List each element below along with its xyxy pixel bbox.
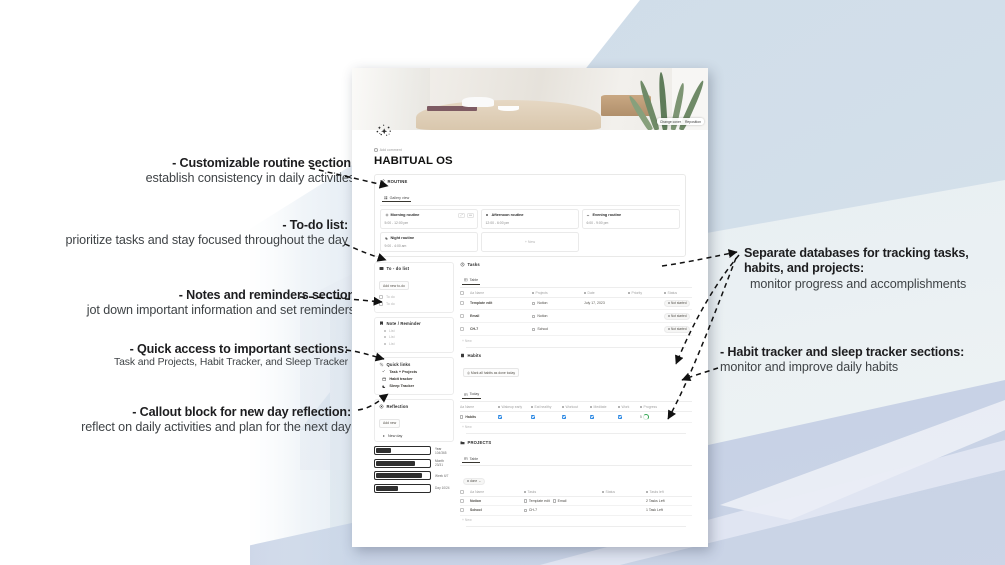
annotation-todo: - To-do list: prioritize tasks and stay … <box>18 218 348 249</box>
progress-bar-day-fill <box>376 486 398 491</box>
projects-col-status[interactable]: Status <box>602 490 646 494</box>
row-checkbox[interactable] <box>460 499 464 503</box>
note-list-item[interactable]: List <box>384 335 449 339</box>
table-row[interactable]: CH-7 School Not started <box>460 323 692 336</box>
select-all-checkbox[interactable] <box>460 490 464 494</box>
projects-table-view-label: Table <box>470 457 479 461</box>
note-list-item[interactable]: List <box>384 329 449 333</box>
routine-card-night[interactable]: Night routine 9:00 - 4:00 am <box>380 232 478 252</box>
progress-bar-month <box>374 459 431 468</box>
habits-col-wakeup[interactable]: Wakeup early <box>498 405 531 409</box>
progress-month-value: 23/31 <box>435 463 443 467</box>
progress-bar-week <box>374 471 431 480</box>
habit-checkbox-workout[interactable] <box>562 415 566 419</box>
tasks-header: Tasks <box>460 262 692 267</box>
progress-bar-year-fill <box>376 448 391 453</box>
routine-gallery-view-tab[interactable]: Gallery view <box>382 196 411 203</box>
add-comment-row[interactable]: Add comment <box>374 148 686 152</box>
more-options-icon[interactable]: ••• <box>467 213 474 218</box>
reflection-section[interactable]: Reflection Add new New day <box>374 399 454 442</box>
page-icon <box>524 509 527 513</box>
cover-book <box>427 106 477 110</box>
routine-card-evening[interactable]: Evening routine 6:00 - 9:00 pm <box>582 209 680 229</box>
tasks-table-view-label: Table <box>470 278 479 282</box>
progress-day-text: Day <box>435 486 441 490</box>
annotation-quicklinks-body: Task and Projects, Habit Tracker, and Sl… <box>18 357 348 370</box>
routine-card-afternoon[interactable]: Afternoon routine 12:00 - 6:00 pm <box>481 209 579 229</box>
progress-day-value: 10/24 <box>442 486 450 490</box>
row-checkbox[interactable] <box>460 327 464 331</box>
projects-col-tasks[interactable]: Tasks <box>524 490 602 494</box>
progress-bar-week-fill <box>376 473 422 478</box>
page-icon <box>532 328 535 332</box>
page-icon <box>524 499 527 503</box>
task-project: School <box>532 327 584 331</box>
select-all-checkbox[interactable] <box>460 291 464 295</box>
filter-icon <box>467 480 469 482</box>
projects-filter-label: done <box>470 479 477 483</box>
quicklink-task-projects[interactable]: Task + Projects <box>382 369 449 373</box>
sun-icon <box>485 213 489 218</box>
note-list-item[interactable]: List <box>384 342 449 346</box>
habit-progress: 5 <box>640 414 692 420</box>
todo-title: To - do list <box>387 266 410 271</box>
annotation-notes: - Notes and reminders section jot down i… <box>18 288 355 319</box>
annotation-routine-body: establish consistency in daily activitie… <box>18 171 355 186</box>
projects-col-tasks-left[interactable]: Tasks left <box>646 490 692 494</box>
todo-icon <box>379 266 384 271</box>
notes-title: Note / Reminder <box>387 321 421 326</box>
calendar-icon <box>382 377 386 381</box>
projects-header: PROJECTS <box>460 440 692 445</box>
habits-header: Habits <box>460 353 692 358</box>
link-icon <box>379 362 384 367</box>
moon-icon <box>385 236 389 241</box>
progress-row-day: Day 10/24 <box>374 484 454 493</box>
routine-section[interactable]: ROUTINE Gallery view <box>374 174 686 257</box>
habit-name: Habits <box>460 415 498 419</box>
routine-card-morning-time: 5:00 - 12:00 pm <box>385 221 474 225</box>
routine-card-night-time: 9:00 - 4:00 am <box>385 244 474 248</box>
progress-row-week: Week 6/7 <box>374 471 454 480</box>
mark-all-icon: ◎ <box>467 371 470 375</box>
project-name: Notion <box>470 499 524 503</box>
quicklink-habit-tracker-label: Habit tracker <box>389 377 412 381</box>
tasks-view-tabs[interactable]: Table <box>460 269 692 288</box>
habits-col-progress[interactable]: Progress <box>640 405 692 409</box>
bullet-icon <box>384 343 386 345</box>
routine-card-afternoon-title: Afternoon routine <box>485 213 574 218</box>
project-name: School <box>470 508 524 512</box>
progress-year-value: 104/365 <box>435 451 447 455</box>
annotation-habit-sleep: - Habit tracker and sleep tracker sectio… <box>720 345 995 376</box>
progress-label-year: Year 104/365 <box>435 447 447 456</box>
tasks-table: Aa Name Projects Date Priority Status Te… <box>460 291 692 347</box>
quicklinks-section[interactable]: Quick links Task + Projects <box>374 357 454 395</box>
todo-checkbox[interactable] <box>379 302 383 306</box>
progress-week-text: Week <box>435 474 443 478</box>
todo-item-label: To do <box>386 302 395 306</box>
project-tasks-left: 1 Task Left <box>646 508 692 512</box>
tasks-icon <box>460 262 465 267</box>
projects-divider <box>466 526 686 527</box>
left-column: To - do list Add new to-do To do To do <box>374 262 454 497</box>
projects-section[interactable]: PROJECTS Table <box>460 440 692 527</box>
row-checkbox[interactable] <box>460 301 464 305</box>
chevron-right-icon <box>383 435 385 437</box>
change-cover-button[interactable]: Change cover <box>660 120 681 124</box>
habit-progress-value: 5 <box>640 415 642 419</box>
routine-card-night-title: Night routine <box>385 236 474 241</box>
todo-item-label: To do <box>386 295 395 299</box>
tasks-col-date[interactable]: Date <box>584 291 628 295</box>
progress-ring-icon <box>643 414 649 420</box>
habits-icon <box>460 353 465 358</box>
todo-section[interactable]: To - do list Add new to-do To do To do <box>374 262 454 313</box>
routine-card-evening-name: Evening routine <box>592 213 621 217</box>
sunset-icon <box>586 213 590 218</box>
todo-item[interactable]: To do <box>379 295 449 299</box>
right-column: Tasks Table <box>460 262 692 527</box>
todo-checkbox[interactable] <box>379 295 383 299</box>
task-status: Not started <box>664 326 692 334</box>
status-badge: Not started <box>664 313 690 321</box>
annotation-notes-heading: - Notes and reminders section <box>18 288 355 303</box>
annotation-routine: - Customizable routine section: establis… <box>18 156 355 187</box>
reflection-title: Reflection <box>387 404 409 409</box>
habit-checkbox-work[interactable] <box>618 415 622 419</box>
habit-checkbox-eat-healthy[interactable] <box>531 415 535 419</box>
routine-card-afternoon-name: Afternoon routine <box>491 213 523 217</box>
progress-bar-day <box>374 484 431 493</box>
habits-new-row-button[interactable]: + New <box>460 423 692 429</box>
progress-label-month: Month 23/31 <box>435 459 444 468</box>
task-project: Notion <box>532 314 584 318</box>
habits-today-view-label: Today <box>470 392 480 396</box>
quicklink-task-projects-label: Task + Projects <box>389 370 417 374</box>
annotation-callout-heading: - Callout block for new day reflection: <box>18 405 351 420</box>
progress-label-week: Week 6/7 <box>435 474 448 478</box>
habits-col-name[interactable]: Aa Name <box>460 405 498 409</box>
progress-row-month: Month 23/31 <box>374 459 454 468</box>
routine-card-evening-time: 6:00 - 9:00 pm <box>586 221 675 225</box>
expand-icon[interactable]: ⤢ <box>458 213 465 218</box>
tasks-col-projects[interactable]: Projects <box>532 291 584 295</box>
annotation-quicklinks-heading: - Quick access to important sections: <box>18 342 348 357</box>
progress-row-year: Year 104/365 <box>374 446 454 455</box>
add-comment-label: Add comment <box>380 148 402 152</box>
table-icon <box>464 278 468 282</box>
habit-checkbox-wakeup[interactable] <box>498 415 502 419</box>
routine-gallery-view-label: Gallery view <box>390 196 410 200</box>
task-name: CH-7 <box>470 327 532 331</box>
mark-all-habits-done-button[interactable]: ◎ Mark all habits as done today <box>463 368 519 377</box>
annotation-callout: - Callout block for new day reflection: … <box>18 405 351 436</box>
routine-card-evening-title: Evening routine <box>586 213 675 218</box>
chevron-down-icon: ⌄ <box>479 479 482 483</box>
habit-checkbox-meditate[interactable] <box>590 415 594 419</box>
progress-label-day: Day 10/24 <box>435 486 450 490</box>
page-title[interactable]: HABITUAL OS <box>374 155 686 167</box>
routine-card-tools[interactable]: ⤢ ••• <box>458 213 474 218</box>
tasks-new-row-button[interactable]: + New <box>460 336 692 342</box>
annotation-databases-heading: Separate databases for tracking tasks, h… <box>744 246 994 277</box>
projects-view-tabs[interactable]: Table <box>460 447 692 466</box>
routine-new-card-button[interactable]: + New <box>481 232 579 252</box>
annotation-habit-sleep-body: monitor and improve daily habits <box>720 360 995 375</box>
sun-icon <box>385 213 389 218</box>
routine-card-morning[interactable]: Morning routine 5:00 - 12:00 pm ⤢ ••• <box>380 209 478 229</box>
habits-today-view-tab[interactable]: Today <box>462 392 481 399</box>
routine-new-label: + New <box>525 240 535 244</box>
todo-header: To - do list <box>379 266 449 271</box>
page-cover-image[interactable]: Change cover Reposition <box>352 68 708 130</box>
add-new-todo-button[interactable]: Add new to-do <box>379 281 409 290</box>
annotation-notes-body: jot down important information and set r… <box>18 303 355 318</box>
project-tasks: CH-7 <box>524 508 602 512</box>
tasks-table-view-tab[interactable]: Table <box>462 278 480 285</box>
todo-item[interactable]: To do <box>379 302 449 306</box>
quicklink-sleep-tracker-label: Sleep Tracker <box>389 384 414 388</box>
annotation-databases: Separate databases for tracking tasks, h… <box>744 246 994 292</box>
task-project: Notion <box>532 301 584 305</box>
tasks-col-name[interactable]: Aa Name <box>470 291 532 295</box>
cover-teapot <box>462 97 494 107</box>
progress-bar-year <box>374 446 431 455</box>
gallery-icon <box>384 196 388 200</box>
row-checkbox[interactable] <box>460 314 464 318</box>
habits-section[interactable]: Habits ◎ Mark all habits as done today <box>460 353 692 434</box>
notes-header: Note / Reminder <box>379 321 449 326</box>
annotation-routine-heading: - Customizable routine section: <box>18 156 355 171</box>
projects-col-name[interactable]: Aa Name <box>470 490 524 494</box>
table-row[interactable]: Template edit Notion July 17, 2023 Not s… <box>460 298 692 311</box>
row-checkbox[interactable] <box>460 508 464 512</box>
projects-title: PROJECTS <box>468 440 492 445</box>
table-icon <box>464 393 468 397</box>
status-badge: Not started <box>664 326 690 334</box>
progress-bars-section: Year 104/365 Month 23/31 <box>374 446 454 493</box>
annotation-quicklinks: - Quick access to important sections: Ta… <box>18 342 348 370</box>
annotation-todo-body: prioritize tasks and stay focused throug… <box>18 233 348 248</box>
add-new-reflection-button[interactable]: Add new <box>379 419 400 428</box>
page-icon <box>553 499 556 503</box>
reposition-button[interactable]: Reposition <box>685 120 701 124</box>
moon-icon <box>382 384 386 388</box>
notion-page-preview[interactable]: Change cover Reposition <box>352 68 708 547</box>
projects-table: Aa Name Tasks Status Tasks left Notion T… <box>460 490 692 526</box>
notes-section[interactable]: Note / Reminder List List List <box>374 317 454 353</box>
screenshot-canvas: - Customizable routine section: establis… <box>0 0 1005 565</box>
annotation-callout-body: reflect on daily activities and plan for… <box>18 420 351 435</box>
routine-title: ROUTINE <box>388 179 408 184</box>
status-badge: Not started <box>664 300 690 308</box>
tasks-col-priority[interactable]: Priority <box>628 291 664 295</box>
page-icon-sparkle[interactable] <box>374 122 394 142</box>
table-row[interactable]: School CH-7 1 Task Left <box>460 506 692 515</box>
bullet-icon <box>384 330 386 332</box>
project-tasks: Template edit Email <box>524 499 602 503</box>
projects-icon <box>460 440 465 445</box>
habits-table: Aa Name Wakeup early Eat healthy Workout… <box>460 405 692 434</box>
tasks-title: Tasks <box>468 262 480 267</box>
habits-title: Habits <box>468 353 482 358</box>
bullet-icon <box>384 336 386 338</box>
projects-new-row-button[interactable]: + New <box>460 516 692 522</box>
table-row[interactable]: Email Notion Not started <box>460 310 692 323</box>
routine-header: ROUTINE <box>380 179 680 184</box>
projects-filter-done[interactable]: done ⌄ <box>463 478 485 486</box>
routine-card-night-name: Night routine <box>391 236 415 240</box>
note-icon <box>379 321 384 326</box>
task-name: Email <box>470 314 532 318</box>
mark-all-habits-done-label: Mark all habits as done today <box>471 371 515 375</box>
note-list-item-label: List <box>389 335 395 339</box>
tasks-section[interactable]: Tasks Table <box>460 262 692 348</box>
routine-view-tabs[interactable]: Gallery view <box>380 187 680 206</box>
habits-col-work[interactable]: Work <box>618 405 640 409</box>
task-name: Template edit <box>470 301 532 305</box>
table-row[interactable]: Habits 5 <box>460 412 692 423</box>
routine-gallery: Morning routine 5:00 - 12:00 pm ⤢ ••• <box>380 209 680 252</box>
table-row[interactable]: Notion Template edit Email 2 Tasks Left <box>460 497 692 506</box>
reflection-toggle-new-day[interactable]: New day <box>383 434 449 438</box>
cover-table <box>416 100 601 130</box>
quicklinks-header: Quick links <box>379 362 449 367</box>
annotation-todo-heading: - To-do list: <box>18 218 348 233</box>
page-columns: To - do list Add new to-do To do To do <box>374 262 686 527</box>
annotation-habit-sleep-heading: - Habit tracker and sleep tracker sectio… <box>720 345 995 360</box>
page-icon <box>532 315 535 319</box>
routine-card-afternoon-time: 12:00 - 6:00 pm <box>485 221 574 225</box>
routine-card-morning-name: Morning routine <box>391 213 420 217</box>
routine-icon <box>380 179 385 184</box>
project-tasks-left: 2 Tasks Left <box>646 499 692 503</box>
page-icon <box>532 302 535 306</box>
cover-actions[interactable]: Change cover Reposition <box>657 118 704 125</box>
note-list-item-label: List <box>389 329 395 333</box>
task-status: Not started <box>664 300 692 308</box>
tasks-divider <box>466 347 686 348</box>
tasks-col-status[interactable]: Status <box>664 291 692 295</box>
progress-bar-month-fill <box>376 461 415 466</box>
quicklinks-title: Quick links <box>387 362 411 367</box>
table-icon <box>464 457 468 461</box>
quicklink-sleep-tracker[interactable]: Sleep Tracker <box>382 384 449 388</box>
habits-col-eat-healthy[interactable]: Eat healthy <box>531 405 562 409</box>
reflection-toggle-label: New day <box>388 434 402 438</box>
task-date: July 17, 2023 <box>584 301 628 305</box>
quicklink-habit-tracker[interactable]: Habit tracker <box>382 377 449 381</box>
checklist-icon <box>382 369 386 373</box>
target-icon <box>379 404 384 409</box>
page-icon <box>460 415 463 419</box>
annotation-databases-body: monitor progress and accomplishments <box>744 277 994 292</box>
projects-table-view-tab[interactable]: Table <box>462 457 480 464</box>
note-list-item-label: List <box>389 342 395 346</box>
comment-icon <box>374 148 378 152</box>
task-status: Not started <box>664 313 692 321</box>
habits-col-meditate[interactable]: Meditate <box>590 405 618 409</box>
progress-week-value: 6/7 <box>444 474 448 478</box>
habits-col-workout[interactable]: Workout <box>562 405 590 409</box>
reflection-header: Reflection <box>379 404 449 409</box>
habits-divider <box>466 433 686 434</box>
habits-view-tabs[interactable]: Today <box>460 383 692 402</box>
